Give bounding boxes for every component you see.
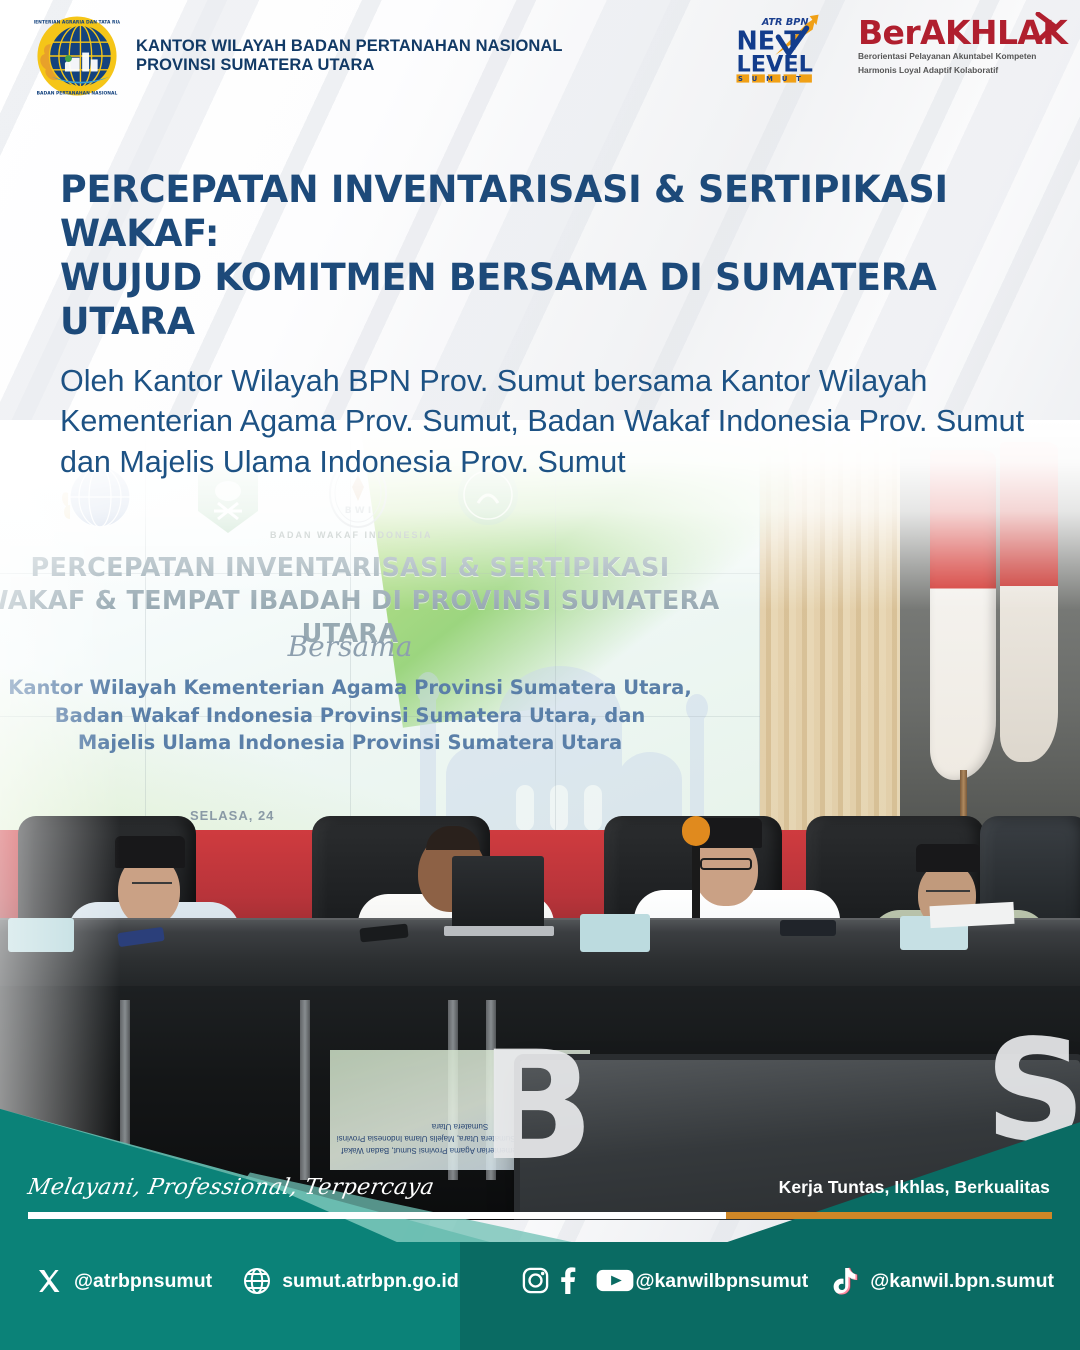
header-bar: KEMENTERIAN AGRARIA DAN TATA RUANG BADAN… <box>0 0 1080 112</box>
berakhlak-title: BerAKHLAK <box>858 16 1054 49</box>
tagline-left: Melayani, Professional, Terpercaya <box>26 1175 436 1200</box>
website-url[interactable]: sumut.atrbpn.go.id <box>282 1270 459 1293</box>
screen-partner-line-2: Badan Wakaf Indonesia Provinsi Sumatera … <box>55 704 645 727</box>
eyeglasses <box>700 858 752 870</box>
heading-line-1: PERCEPATAN INVENTARISASI & SERTIPIKASI W… <box>60 167 948 255</box>
tagline-right: Kerja Tuntas, Ikhlas, Berkualitas <box>779 1177 1050 1198</box>
facebook-icon[interactable] <box>558 1266 588 1296</box>
org-line-1: KANTOR WILAYAH BADAN PERTANAHAN NASIONAL <box>136 37 563 56</box>
laptop-base <box>444 926 554 936</box>
brand-left-group: KEMENTERIAN AGRARIA DAN TATA RUANG BADAN… <box>34 13 563 99</box>
org-line-2: PROVINSI SUMATERA UTARA <box>136 56 563 75</box>
meta-icon-group[interactable] <box>521 1266 625 1296</box>
document-papers <box>929 902 1014 928</box>
instagram-icon[interactable] <box>521 1266 551 1296</box>
heading-line-2: WUJUD KOMITMEN BERSAMA DI SUMATERA UTARA <box>60 255 937 343</box>
tiktok-handle[interactable]: @kanwil.bpn.sumut <box>870 1270 1054 1293</box>
title-block: PERCEPATAN INVENTARISASI & SERTIPIKASI W… <box>60 168 1040 482</box>
tiktok-icon[interactable] <box>830 1266 860 1296</box>
peci-cap <box>916 844 980 872</box>
organization-name: KANTOR WILAYAH BADAN PERTANAHAN NASIONAL… <box>136 37 563 76</box>
poster-heading: PERCEPATAN INVENTARISASI & SERTIPIKASI W… <box>60 168 1011 344</box>
berakhlak-logo: BerAKHLAK Berorientasi Pelayanan Akuntab… <box>858 16 1054 75</box>
berakhlak-sub-line-2: Harmonis Loyal Adaptif Kolaboratif <box>858 65 1054 76</box>
divider-white-segment <box>28 1212 726 1219</box>
website-item[interactable]: sumut.atrbpn.go.id <box>242 1266 459 1296</box>
remote-control <box>780 920 836 936</box>
meta-platforms-item[interactable]: @kanwilbpnsumut <box>521 1266 808 1296</box>
twitter-handle[interactable]: @atrbpnsumut <box>74 1270 212 1293</box>
hair <box>426 826 480 850</box>
twitter-x-icon[interactable] <box>34 1266 64 1296</box>
screen-event-date: SELASA, 24 <box>190 808 274 823</box>
divider-orange-segment <box>726 1212 1052 1219</box>
chevron-icon <box>1034 12 1058 42</box>
tissue-box <box>580 914 650 952</box>
laptop <box>452 856 544 930</box>
svg-text:KEMENTERIAN AGRARIA DAN TATA R: KEMENTERIAN AGRARIA DAN TATA RUANG <box>34 19 120 25</box>
social-right-group: @kanwilbpnsumut @kanwil.bpn.sumut <box>521 1266 1054 1296</box>
svg-text:LEVEL: LEVEL <box>736 51 812 77</box>
twitter-x-item[interactable]: @atrbpnsumut <box>34 1266 212 1296</box>
globe-icon[interactable] <box>242 1266 272 1296</box>
svg-text:BADAN PERTANAHAN NASIONAL: BADAN PERTANAHAN NASIONAL <box>37 91 118 97</box>
bpn-globe-icon: KEMENTERIAN AGRARIA DAN TATA RUANG BADAN… <box>34 13 120 99</box>
eyeglasses <box>132 882 172 891</box>
poster-subheading: Oleh Kantor Wilayah BPN Prov. Sumut bers… <box>60 361 1040 483</box>
poster-canvas: KEMENTERIAN AGRARIA DAN TATA RUANG BADAN… <box>0 0 1080 1350</box>
next-level-sumut-logo: ATR BPN NE T LEVEL SUMUT <box>732 8 844 84</box>
tiktok-item[interactable]: @kanwil.bpn.sumut <box>830 1266 1054 1296</box>
footer-bar: Melayani, Professional, Terpercaya Kerja… <box>0 1085 1080 1350</box>
eyeglasses <box>926 890 970 900</box>
youtube-icon[interactable] <box>595 1266 625 1296</box>
berakhlak-sub-line-1: Berorientasi Pelayanan Akuntabel Kompete… <box>858 51 1054 62</box>
meta-handle[interactable]: @kanwilbpnsumut <box>635 1270 808 1293</box>
microphone-head <box>682 816 710 846</box>
peci-cap <box>115 836 185 868</box>
screen-partner-line-3: Majelis Ulama Indonesia Provinsi Sumater… <box>78 731 622 754</box>
social-media-row: @atrbpnsumut sumut.atrbpn.go.id <box>0 1266 1080 1316</box>
brand-right-group: ATR BPN NE T LEVEL SUMUT <box>732 8 1054 84</box>
social-left-group: @atrbpnsumut sumut.atrbpn.go.id <box>34 1266 459 1296</box>
svg-text:SUMUT: SUMUT <box>738 75 810 83</box>
footer-divider <box>28 1212 1052 1219</box>
